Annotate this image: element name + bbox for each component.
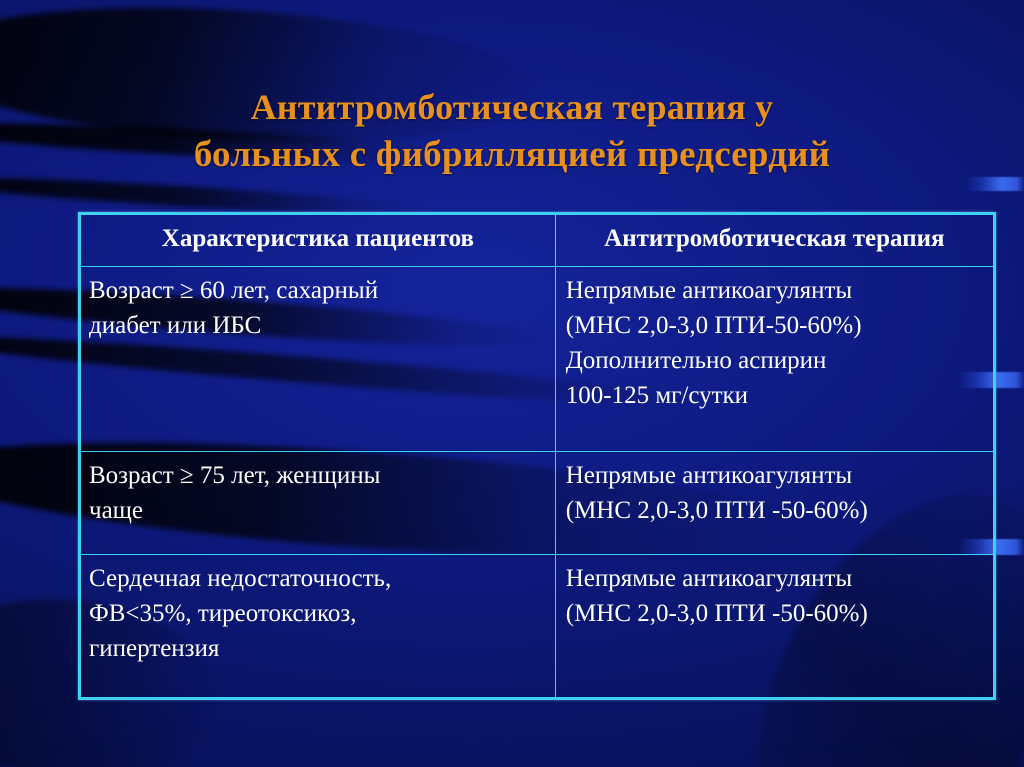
- cell-characteristic-row-3: Сердечная недостаточность, ФВ<35%, тирео…: [81, 555, 556, 698]
- cell-characteristic-row-2: Возраст ≥ 75 лет, женщины чаще: [81, 452, 556, 555]
- characteristic-row-1-line-1: Возраст ≥ 60 лет, сахарный: [89, 273, 551, 308]
- column-header-therapy-line-2: терапия: [853, 225, 945, 252]
- column-header-characteristic-line-1: Характеристика: [162, 225, 349, 252]
- slide-title: Антитромботическая терапия у больных с ф…: [60, 84, 964, 179]
- column-header-therapy-line-1: Антитромботическая: [604, 225, 846, 252]
- characteristic-row-3-line-2: ФВ<35%, тиреотоксикоз,: [89, 596, 551, 631]
- slide-title-line-1: Антитромботическая терапия у: [60, 84, 964, 131]
- cell-therapy-row-3: Непрямые антикоагулянты (МНС 2,0-3,0 ПТИ…: [555, 555, 993, 698]
- therapy-row-3-line-2: (МНС 2,0-3,0 ПТИ -50-60%): [566, 596, 985, 631]
- therapy-table: Характеристика пациентов Антитромботичес…: [78, 212, 996, 700]
- therapy-row-1-line-3: Дополнительно аспирин: [566, 343, 985, 378]
- cell-therapy-row-2: Непрямые антикоагулянты (МНС 2,0-3,0 ПТИ…: [555, 452, 993, 555]
- cell-characteristic-row-1: Возраст ≥ 60 лет, сахарный диабет или ИБ…: [81, 267, 556, 452]
- therapy-row-3-line-1: Непрямые антикоагулянты: [566, 561, 985, 596]
- characteristic-row-3-line-1: Сердечная недостаточность,: [89, 561, 551, 596]
- therapy-row-1-line-3-right: аспирин: [738, 347, 826, 374]
- slide-title-line-2: больных с фибрилляцией предсердий: [60, 131, 964, 179]
- cell-therapy-row-1: Непрямые антикоагулянты (МНС 2,0-3,0 ПТИ…: [555, 267, 993, 452]
- table-header-row: Характеристика пациентов Антитромботичес…: [81, 215, 994, 267]
- column-header-characteristic-line-2: пациентов: [355, 225, 474, 252]
- therapy-row-1-line-1: Непрямые антикоагулянты: [566, 273, 985, 308]
- column-header-characteristic: Характеристика пациентов: [81, 215, 556, 267]
- characteristic-row-3-line-3: гипертензия: [89, 631, 551, 666]
- characteristic-row-1-line-2: диабет или ИБС: [89, 308, 551, 343]
- slide-canvas: Антитромботическая терапия у больных с ф…: [0, 0, 1024, 767]
- table-row: Возраст ≥ 75 лет, женщины чаще Непрямые …: [81, 452, 994, 555]
- table-row: Сердечная недостаточность, ФВ<35%, тирео…: [81, 555, 994, 698]
- therapy-row-2-line-2: (МНС 2,0-3,0 ПТИ -50-60%): [566, 493, 985, 528]
- characteristic-row-2-line-2: чаще: [89, 493, 551, 528]
- characteristic-row-2-line-1: Возраст ≥ 75 лет, женщины: [89, 458, 551, 493]
- therapy-row-1-line-3-left: Дополнительно: [566, 347, 732, 374]
- therapy-row-1-line-2: (МНС 2,0-3,0 ПТИ-50-60%): [566, 308, 985, 343]
- therapy-row-1-line-4: 100-125 мг/сутки: [566, 378, 985, 413]
- table-row: Возраст ≥ 60 лет, сахарный диабет или ИБ…: [81, 267, 994, 452]
- accent-bar-icon: [966, 177, 1024, 191]
- therapy-row-2-line-1: Непрямые антикоагулянты: [566, 458, 985, 493]
- column-header-therapy: Антитромботическая терапия: [555, 215, 993, 267]
